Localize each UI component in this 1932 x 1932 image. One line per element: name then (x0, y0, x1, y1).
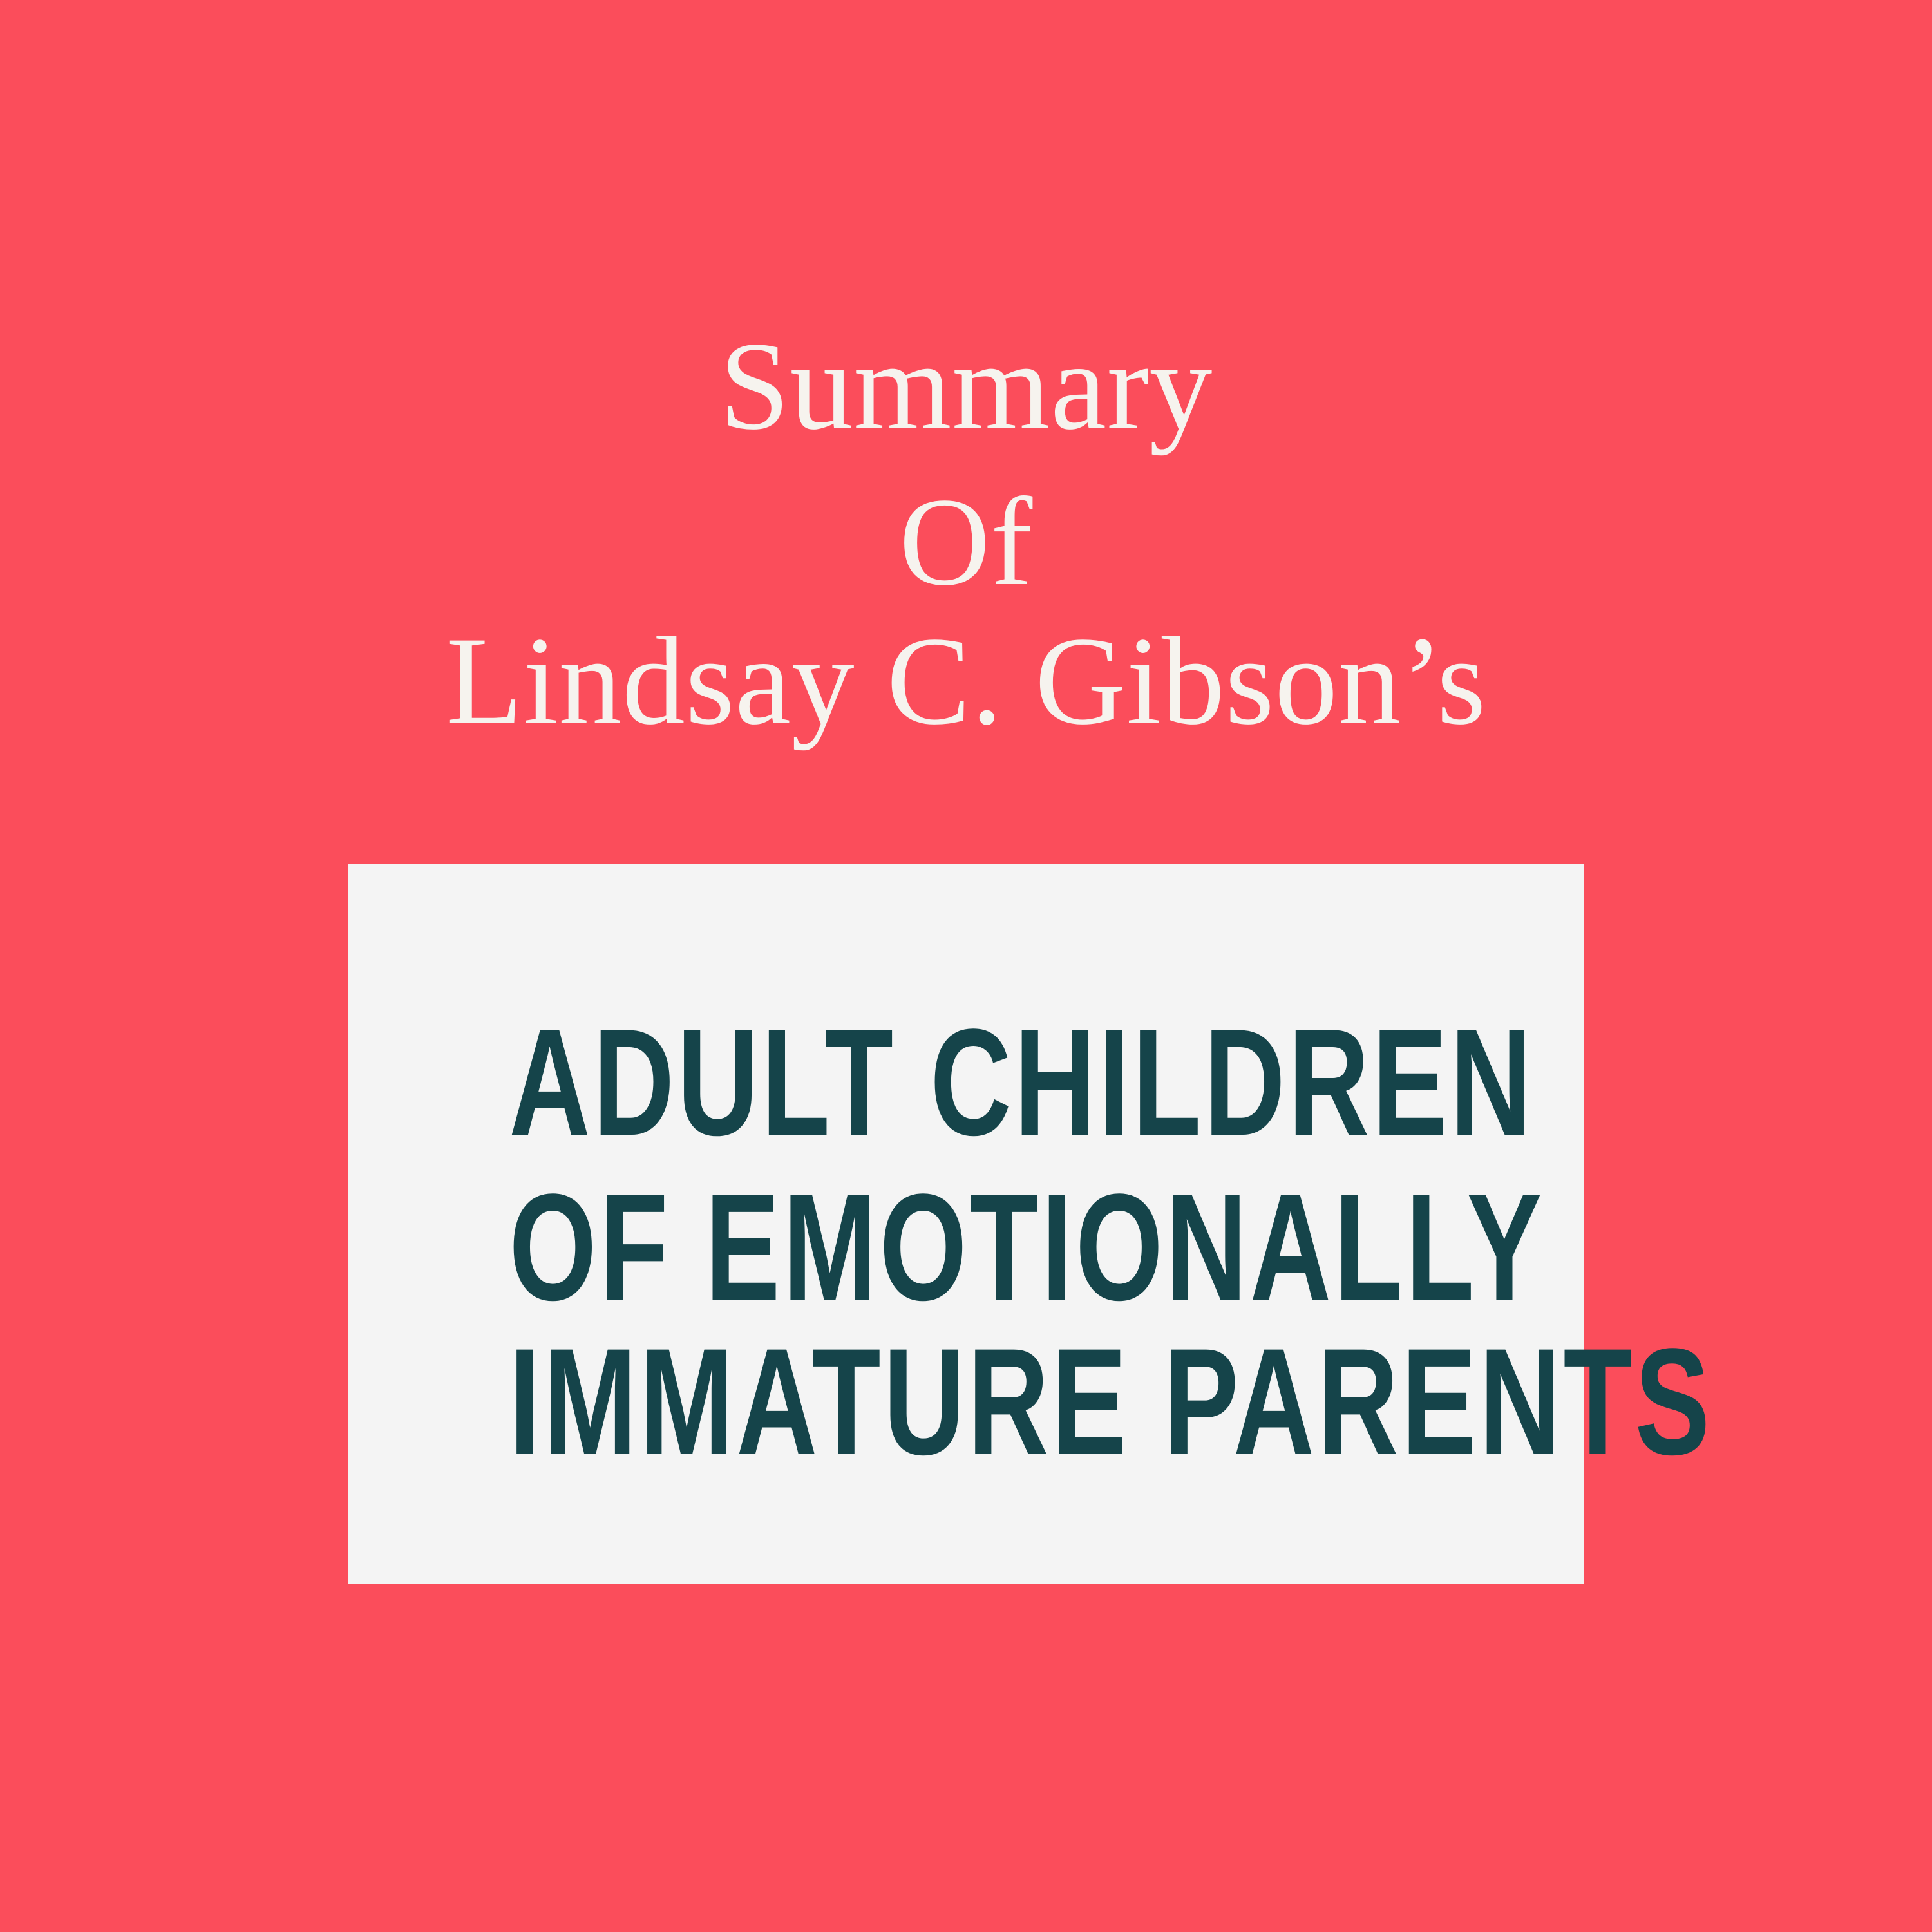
title-line-1: Adult Children (509, 1007, 1423, 1159)
title-line-2: Of Emotionally (509, 1171, 1423, 1323)
of-label: Of (0, 479, 1932, 605)
book-cover: Summary Of Lindsay C. Gibson’s Adult Chi… (0, 0, 1932, 1932)
book-title: Adult Children Of Emotionally Immature P… (348, 864, 1584, 1584)
title-panel: Adult Children Of Emotionally Immature P… (348, 864, 1584, 1584)
summary-label: Summary (0, 323, 1932, 450)
title-line-3: Immature Parents (509, 1326, 1423, 1478)
author-name: Lindsay C. Gibson’s (0, 618, 1932, 744)
